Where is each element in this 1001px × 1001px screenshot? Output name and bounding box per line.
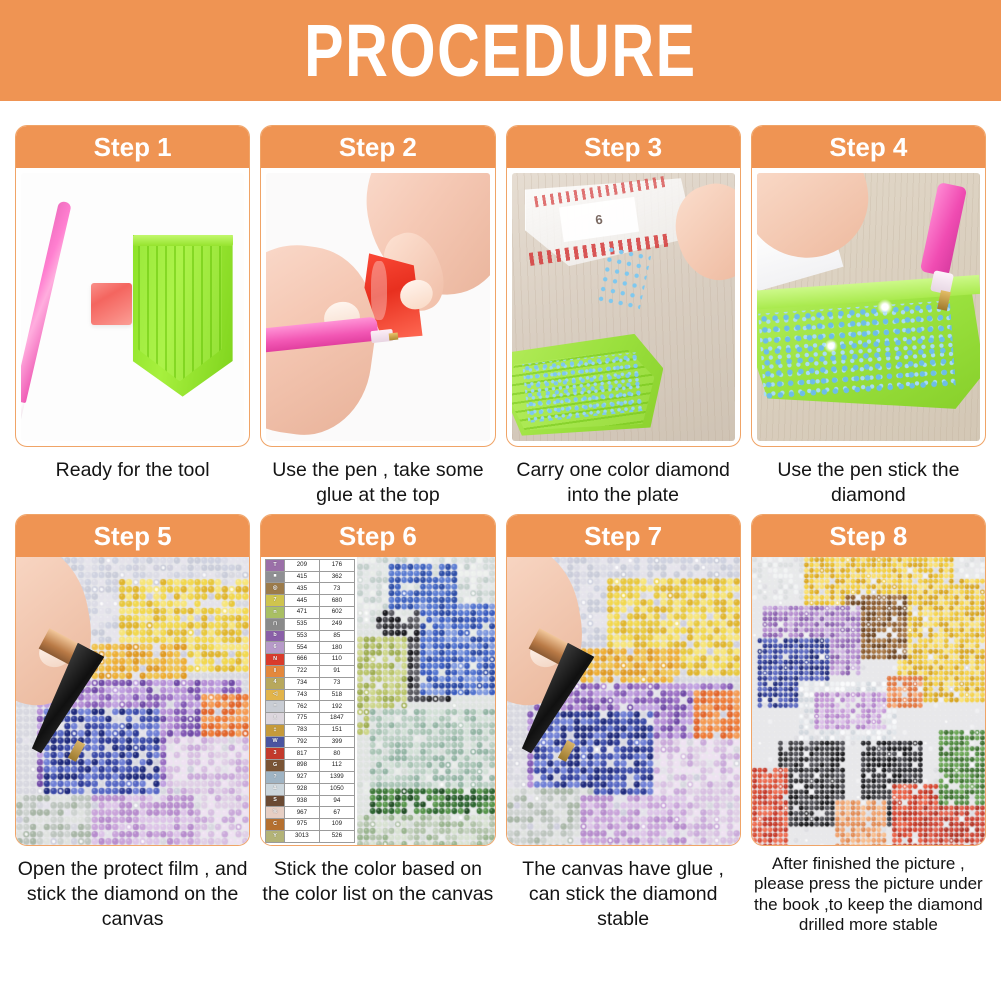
color-count-cell: 399 xyxy=(319,736,354,748)
step-5-photo xyxy=(16,557,249,845)
color-code-cell: 817 xyxy=(284,748,319,760)
step-1-header: Step 1 xyxy=(16,126,249,168)
color-chart-row: b55385 xyxy=(266,630,355,642)
sparkle-icon xyxy=(824,339,838,353)
color-code-cell: 775 xyxy=(284,713,319,725)
color-count-cell: 249 xyxy=(319,618,354,630)
step-2-caption: Use the pen , take some glue at the top xyxy=(260,447,495,508)
color-chart-row: 473473 xyxy=(266,677,355,689)
color-code-cell: 898 xyxy=(284,760,319,772)
step-4-header: Step 4 xyxy=(752,126,985,168)
step-5-header: Step 5 xyxy=(16,515,249,557)
color-count-cell: 151 xyxy=(319,724,354,736)
color-code-cell: 722 xyxy=(284,665,319,677)
color-count-cell: 85 xyxy=(319,630,354,642)
step-8-header: Step 8 xyxy=(752,515,985,557)
color-symbol-cell: C xyxy=(266,819,285,831)
step-6-header: Step 6 xyxy=(261,515,494,557)
step-4-caption: Use the pen stick the diamond xyxy=(751,447,986,508)
color-code-cell: 554 xyxy=(284,642,319,654)
color-code-cell: 435 xyxy=(284,583,319,595)
color-symbol-cell: N xyxy=(266,654,285,666)
color-symbol-cell: n xyxy=(266,607,285,619)
pen-tip-icon xyxy=(389,332,399,340)
color-chart-row: 7445680 xyxy=(266,595,355,607)
green-tray-lip-icon xyxy=(133,235,233,246)
color-chart-row: ◎43573 xyxy=(266,583,355,595)
step-card-3: Step 3 6 xyxy=(506,125,741,447)
step-5-label: Step 5 xyxy=(94,523,172,549)
step-8-label: Step 8 xyxy=(829,523,907,549)
step-3-photo: 6 xyxy=(512,173,735,441)
color-chart-row: Y3013526 xyxy=(266,830,355,842)
step-6-label: Step 6 xyxy=(339,523,417,549)
color-code-cell: 938 xyxy=(284,795,319,807)
step-5-caption: Open the protect film , and stick the di… xyxy=(15,846,250,932)
pink-pen-icon xyxy=(21,201,72,404)
color-count-cell: 112 xyxy=(319,760,354,772)
color-symbol-cell: ∆ xyxy=(266,783,285,795)
step-3-header: Step 3 xyxy=(507,126,740,168)
color-count-cell: 110 xyxy=(319,654,354,666)
color-chart-row: ?9271399 xyxy=(266,771,355,783)
step-cell-8: Step 8 After finished the picture , plea… xyxy=(746,508,991,936)
step-1-label: Step 1 xyxy=(94,134,172,160)
color-count-cell: 109 xyxy=(319,819,354,831)
color-count-cell: 362 xyxy=(319,571,354,583)
color-chart-row: 6554180 xyxy=(266,642,355,654)
color-count-cell: 73 xyxy=(319,583,354,595)
step-7-label: Step 7 xyxy=(584,523,662,549)
color-count-cell: 94 xyxy=(319,795,354,807)
color-symbol-cell: 3 xyxy=(266,748,285,760)
color-symbol-cell: T xyxy=(266,559,285,571)
procedure-steps-grid: Step 1 Ready for the tool Step 2 xyxy=(0,101,1001,935)
color-symbol-cell: ■ xyxy=(266,571,285,583)
step-card-6: Step 6 T209176■415362◎435737445680n47160… xyxy=(260,514,495,846)
page-header-banner: PROCEDURE xyxy=(0,0,1001,101)
step-card-4: Step 4 xyxy=(751,125,986,447)
step-1-photo xyxy=(21,173,244,441)
diamond-canvas-icon xyxy=(357,557,495,845)
step-6-caption: Stick the color based on the color list … xyxy=(260,846,495,907)
color-code-cell: 209 xyxy=(284,559,319,571)
color-chart-row: C975109 xyxy=(266,819,355,831)
color-count-cell: 80 xyxy=(319,748,354,760)
color-chart-row: =762192 xyxy=(266,701,355,713)
color-symbol-cell: /\ xyxy=(266,713,285,725)
color-count-cell: 518 xyxy=(319,689,354,701)
color-code-cell: 734 xyxy=(284,677,319,689)
step-card-2: Step 2 xyxy=(260,125,495,447)
step-card-5: Step 5 xyxy=(15,514,250,846)
color-count-cell: 176 xyxy=(319,559,354,571)
color-chart-row: /\7751847 xyxy=(266,713,355,725)
color-code-cell: 415 xyxy=(284,571,319,583)
color-code-cell: 967 xyxy=(284,807,319,819)
color-code-cell: 792 xyxy=(284,736,319,748)
step-3-label: Step 3 xyxy=(584,134,662,160)
color-chart: T209176■415362◎435737445680n471602⊓53524… xyxy=(261,557,357,845)
color-code-cell: 445 xyxy=(284,595,319,607)
red-glue-square-icon xyxy=(91,283,132,325)
step-8-photo xyxy=(752,557,985,845)
color-symbol-cell: ? xyxy=(266,771,285,783)
color-code-cell: 762 xyxy=(284,701,319,713)
color-symbol-cell: b xyxy=(266,630,285,642)
color-chart-row: W792399 xyxy=(266,736,355,748)
glue-highlight-icon xyxy=(371,261,387,320)
color-chart-row: %96767 xyxy=(266,807,355,819)
color-symbol-cell: ◁ xyxy=(266,689,285,701)
step-7-caption: The canvas have glue , can stick the dia… xyxy=(506,846,741,932)
blue-diamonds-icon xyxy=(758,300,955,399)
step-cell-4: Step 4 Use the pen stick the diamond xyxy=(746,125,991,508)
color-count-cell: 1399 xyxy=(319,771,354,783)
color-symbol-cell: S xyxy=(266,795,285,807)
color-chart-row: S93894 xyxy=(266,795,355,807)
step-7-header: Step 7 xyxy=(507,515,740,557)
step-2-header: Step 2 xyxy=(261,126,494,168)
color-symbol-cell: G xyxy=(266,760,285,772)
color-chart-table: T209176■415362◎435737445680n471602⊓53524… xyxy=(265,559,355,843)
step-cell-1: Step 1 Ready for the tool xyxy=(10,125,255,508)
step-cell-5: Step 5 Open the protect film , and stick… xyxy=(10,508,255,936)
color-symbol-cell: ⊓ xyxy=(266,618,285,630)
color-symbol-cell: Y xyxy=(266,830,285,842)
color-count-cell: 526 xyxy=(319,830,354,842)
color-symbol-cell: ‡ xyxy=(266,724,285,736)
color-count-cell: 602 xyxy=(319,607,354,619)
color-symbol-cell: ◎ xyxy=(266,583,285,595)
color-code-cell: 927 xyxy=(284,771,319,783)
color-symbol-cell: 7 xyxy=(266,595,285,607)
step-8-caption: After finished the picture , please pres… xyxy=(751,846,986,936)
step-card-1: Step 1 xyxy=(15,125,250,447)
color-code-cell: 928 xyxy=(284,783,319,795)
step-cell-7: Step 7 The canvas have glue , can stick … xyxy=(501,508,746,936)
blue-diamonds-icon xyxy=(522,352,644,423)
color-code-cell: 743 xyxy=(284,689,319,701)
color-chart-and-canvas: T209176■415362◎435737445680n471602⊓53524… xyxy=(261,557,494,845)
color-count-cell: 73 xyxy=(319,677,354,689)
color-code-cell: 471 xyxy=(284,607,319,619)
color-code-cell: 535 xyxy=(284,618,319,630)
color-symbol-cell: W xyxy=(266,736,285,748)
color-chart-row: ■415362 xyxy=(266,571,355,583)
step-1-caption: Ready for the tool xyxy=(15,447,250,483)
step-cell-6: Step 6 T209176■415362◎435737445680n47160… xyxy=(255,508,500,936)
color-code-cell: 666 xyxy=(284,654,319,666)
color-code-cell: 975 xyxy=(284,819,319,831)
color-code-cell: 553 xyxy=(284,630,319,642)
color-symbol-cell: = xyxy=(266,701,285,713)
color-count-cell: 67 xyxy=(319,807,354,819)
page-title: PROCEDURE xyxy=(304,14,697,88)
color-chart-row: ⊓535249 xyxy=(266,618,355,630)
color-symbol-cell: ‖ xyxy=(266,665,285,677)
color-symbol-cell: % xyxy=(266,807,285,819)
step-card-7: Step 7 xyxy=(506,514,741,846)
color-chart-row: 381780 xyxy=(266,748,355,760)
pen-collar-icon xyxy=(21,401,25,431)
color-count-cell: 180 xyxy=(319,642,354,654)
color-chart-row: G898112 xyxy=(266,760,355,772)
color-count-cell: 91 xyxy=(319,665,354,677)
step-4-label: Step 4 xyxy=(829,134,907,160)
color-chart-row: N666110 xyxy=(266,654,355,666)
color-count-cell: 1050 xyxy=(319,783,354,795)
color-symbol-cell: 4 xyxy=(266,677,285,689)
step-3-caption: Carry one color diamond into the plate xyxy=(506,447,741,508)
step-2-label: Step 2 xyxy=(339,134,417,160)
step-card-8: Step 8 xyxy=(751,514,986,846)
color-chart-row: ‖72291 xyxy=(266,665,355,677)
color-symbol-cell: 6 xyxy=(266,642,285,654)
step-2-photo xyxy=(266,173,489,441)
color-chart-row: ‡783151 xyxy=(266,724,355,736)
color-code-cell: 783 xyxy=(284,724,319,736)
color-chart-row: n471602 xyxy=(266,607,355,619)
pink-pen-icon xyxy=(920,182,967,277)
color-chart-row: ◁743518 xyxy=(266,689,355,701)
color-chart-row: ∆9281050 xyxy=(266,783,355,795)
step-cell-2: Step 2 Use the pen , take some glue at t… xyxy=(255,125,500,508)
step-4-photo xyxy=(757,173,980,441)
step-cell-3: Step 3 6 Carry one color diamond into th… xyxy=(501,125,746,508)
color-chart-row: T209176 xyxy=(266,559,355,571)
color-code-cell: 3013 xyxy=(284,830,319,842)
step-6-photo: T209176■415362◎435737445680n471602⊓53524… xyxy=(261,557,494,845)
finished-diamond-painting-icon xyxy=(752,557,985,845)
step-7-photo xyxy=(507,557,740,845)
color-count-cell: 1847 xyxy=(319,713,354,725)
color-count-cell: 680 xyxy=(319,595,354,607)
color-count-cell: 192 xyxy=(319,701,354,713)
